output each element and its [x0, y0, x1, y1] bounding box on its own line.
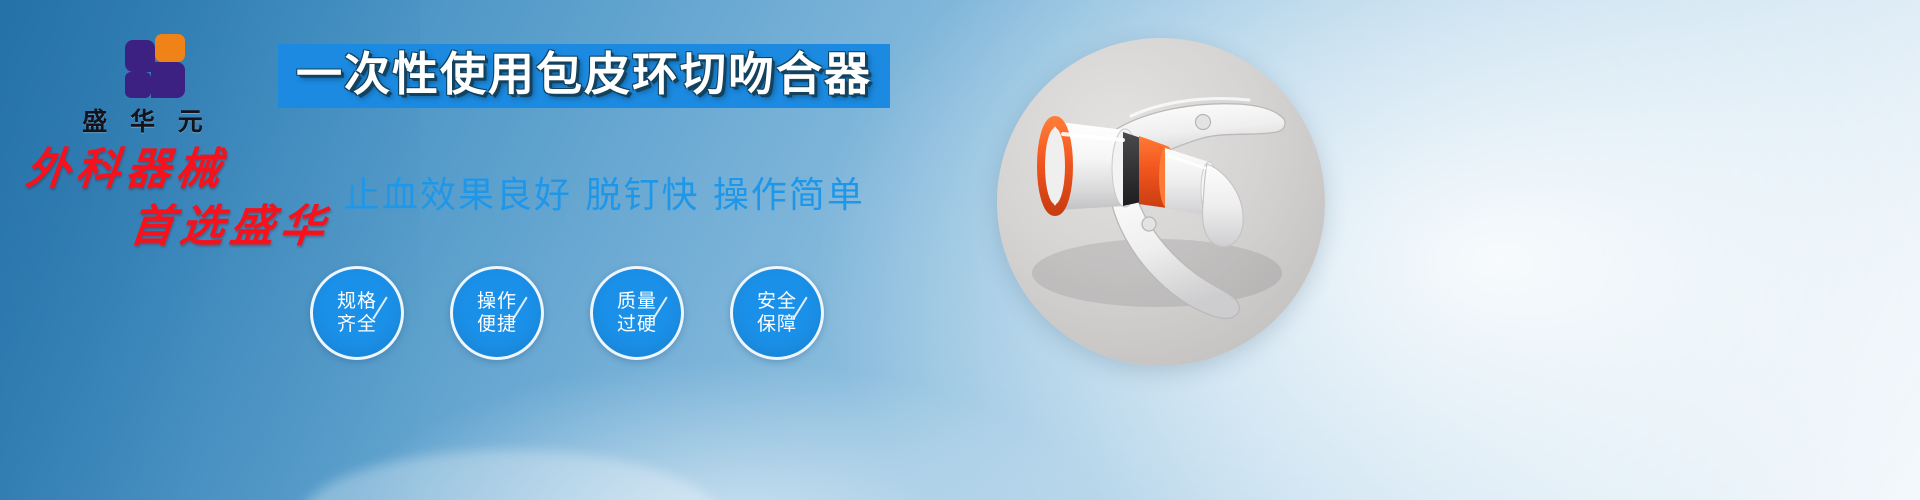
feature-badge-3[interactable]: 质量 过硬	[590, 266, 684, 360]
logo-mark-icon	[109, 28, 183, 92]
background-bottom-arc	[300, 450, 720, 500]
logo-block-connector	[151, 62, 159, 98]
feature-badge-list: 规格 齐全 操作 便捷 质量 过硬 安全 保障	[310, 266, 824, 360]
red-slogan-line-1: 外科器械	[24, 148, 361, 193]
feature-badge-3-line-2: 过硬	[617, 313, 657, 336]
brand-name-text: 盛 华 元	[66, 102, 226, 138]
logo-block-orange	[155, 34, 185, 62]
feature-badge-3-line-1: 质量	[617, 290, 657, 313]
feature-badge-4-line-1: 安全	[757, 290, 797, 313]
product-photo-circle	[997, 38, 1325, 366]
red-slogan: 外科器械 首选盛华	[18, 148, 358, 250]
feature-badge-4-line-2: 保障	[757, 313, 797, 336]
product-image	[997, 38, 1325, 366]
subtitle-text: 止血效果良好 脱钉快 操作简单	[344, 166, 865, 218]
feature-badge-2[interactable]: 操作 便捷	[450, 266, 544, 360]
red-slogan-line-2: 首选盛华	[128, 205, 361, 250]
feature-badge-1-line-2: 齐全	[337, 313, 377, 336]
feature-badge-2-line-1: 操作	[477, 290, 517, 313]
promo-banner: 盛 华 元 一次性使用包皮环切吻合器 外科器械 首选盛华 止血效果良好 脱钉快 …	[0, 0, 1920, 500]
page-title: 一次性使用包皮环切吻合器	[296, 50, 872, 98]
feature-badge-2-line-2: 便捷	[477, 313, 517, 336]
logo-block-bottom-left	[125, 72, 151, 98]
feature-badge-1[interactable]: 规格 齐全	[310, 266, 404, 360]
main-title-bar: 一次性使用包皮环切吻合器	[278, 44, 890, 108]
brand-logo: 盛 华 元	[66, 28, 226, 138]
feature-badge-1-line-1: 规格	[337, 290, 377, 313]
feature-badge-4[interactable]: 安全 保障	[730, 266, 824, 360]
